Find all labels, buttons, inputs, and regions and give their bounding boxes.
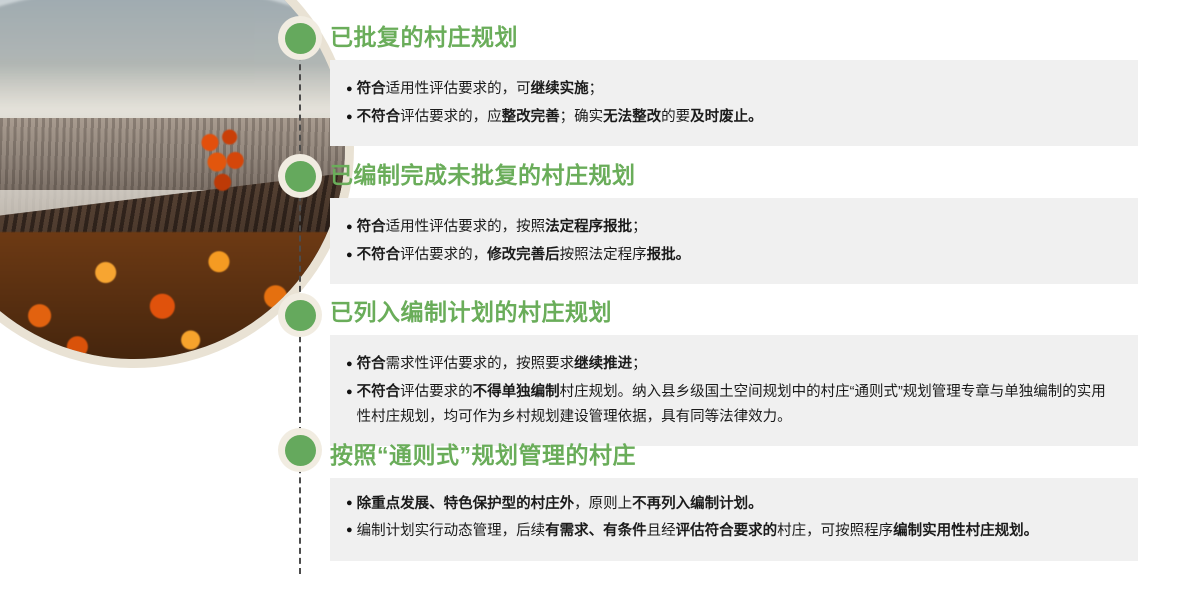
emphasis-text: 及时废止。 [690, 109, 763, 125]
plain-text: ； [632, 219, 647, 235]
emphasis-text: 修改完善后 [487, 247, 560, 263]
timeline-rail [278, 0, 322, 610]
section-title: 按照“通则式”规划管理的村庄 [330, 440, 1138, 470]
bullet-text: 除重点发展、特色保护型的村庄外，原则上不再列入编制计划。 [357, 491, 1120, 517]
emphasis-text: 评估符合要求的 [676, 523, 778, 539]
plain-text: ，原则上 [574, 496, 632, 512]
plain-text: 适用性评估要求的，可 [386, 81, 531, 97]
bullet-text: 符合适用性评估要求的，可继续实施； [357, 77, 1120, 102]
emphasis-text: 不符合 [357, 384, 401, 400]
section-content-box: ●符合适用性评估要求的，按照法定程序报批；●不符合评估要求的，修改完善后按照法定… [330, 198, 1138, 284]
plain-text: ； [632, 356, 647, 372]
plain-text: 评估要求的， [400, 247, 487, 263]
bullet-item: ●不符合评估要求的，修改完善后按照法定程序报批。 [346, 243, 1120, 268]
bullet-text: 不符合评估要求的，应整改完善；确实无法整改的要及时废止。 [357, 105, 1120, 130]
bullet-item: ●不符合评估要求的不得单独编制村庄规划。纳入县乡级国土空间规划中的村庄“通则式”… [346, 380, 1120, 430]
timeline-dot-icon [285, 161, 316, 192]
timeline-marker-2[interactable] [278, 154, 322, 198]
emphasis-text: 不符合 [357, 109, 401, 125]
emphasis-text: 符合 [357, 81, 386, 97]
bullet-item: ●符合适用性评估要求的，按照法定程序报批； [346, 215, 1120, 240]
section-block-3: 已列入编制计划的村庄规划 ●符合需求性评估要求的，按照要求继续推进；●不符合评估… [330, 297, 1138, 446]
section-content-box: ●符合适用性评估要求的，可继续实施；●不符合评估要求的，应整改完善；确实无法整改… [330, 60, 1138, 146]
plain-text: 村庄，可按照程序 [777, 523, 893, 539]
section-block-2: 已编制完成未批复的村庄规划 ●符合适用性评估要求的，按照法定程序报批；●不符合评… [330, 160, 1138, 284]
emphasis-text: 整改完善 [502, 109, 560, 125]
bullet-dot-icon: ● [346, 215, 353, 240]
bullet-text: 不符合评估要求的，修改完善后按照法定程序报批。 [357, 243, 1120, 268]
timeline-dot-icon [285, 23, 316, 54]
emphasis-text: 继续实施 [531, 81, 589, 97]
bullet-dot-icon: ● [346, 491, 353, 516]
emphasis-text: 不再列入编制计划。 [632, 496, 763, 512]
plain-text: 评估要求的 [400, 384, 473, 400]
emphasis-text: 无法整改 [603, 109, 661, 125]
bullet-dot-icon: ● [346, 105, 353, 130]
section-content-box: ●符合需求性评估要求的，按照要求继续推进；●不符合评估要求的不得单独编制村庄规划… [330, 335, 1138, 446]
emphasis-text: 符合 [357, 356, 386, 372]
infographic-page: 已批复的村庄规划 ●符合适用性评估要求的，可继续实施；●不符合评估要求的，应整改… [0, 0, 1200, 610]
bullet-dot-icon: ● [346, 518, 353, 543]
timeline-marker-1[interactable] [278, 16, 322, 60]
bullet-dot-icon: ● [346, 77, 353, 102]
bullet-text: 符合需求性评估要求的，按照要求继续推进； [357, 352, 1120, 377]
photo-red-leaf-sprig [189, 123, 259, 201]
emphasis-text: 除重点发展、特色保护型的村庄外 [357, 496, 575, 512]
plain-text: ；确实 [560, 109, 604, 125]
section-title: 已列入编制计划的村庄规划 [330, 297, 1138, 327]
plain-text: 的要 [661, 109, 690, 125]
plain-text: 评估要求的，应 [400, 109, 502, 125]
plain-text: 编制计划实行动态管理，后续 [357, 523, 546, 539]
emphasis-text: 报批。 [647, 247, 691, 263]
emphasis-text: 法定程序报批 [545, 219, 632, 235]
emphasis-text: 有需求、有条件 [545, 523, 647, 539]
emphasis-text: 编制实用性村庄规划。 [893, 523, 1038, 539]
emphasis-text: 符合 [357, 219, 386, 235]
timeline-dot-icon [285, 300, 316, 331]
emphasis-text: 不得单独编制 [473, 384, 560, 400]
plain-text: 按照法定程序 [560, 247, 647, 263]
plain-text: ； [589, 81, 604, 97]
bullet-item: ●符合适用性评估要求的，可继续实施； [346, 77, 1120, 102]
emphasis-text: 不符合 [357, 247, 401, 263]
timeline-marker-3[interactable] [278, 293, 322, 337]
bullet-item: ●不符合评估要求的，应整改完善；确实无法整改的要及时废止。 [346, 105, 1120, 130]
bullet-item: ●除重点发展、特色保护型的村庄外，原则上不再列入编制计划。 [346, 491, 1120, 517]
bullet-text: 编制计划实行动态管理，后续有需求、有条件且经评估符合要求的村庄，可按照程序编制实… [357, 518, 1120, 544]
plain-text: 且经 [647, 523, 676, 539]
section-title: 已批复的村庄规划 [330, 22, 1138, 52]
section-block-4: 按照“通则式”规划管理的村庄 ●除重点发展、特色保护型的村庄外，原则上不再列入编… [330, 440, 1138, 561]
section-content-box: ●除重点发展、特色保护型的村庄外，原则上不再列入编制计划。●编制计划实行动态管理… [330, 478, 1138, 561]
plain-text: 需求性评估要求的，按照要求 [386, 356, 575, 372]
emphasis-text: 继续推进 [574, 356, 632, 372]
bullet-dot-icon: ● [346, 243, 353, 268]
section-title: 已编制完成未批复的村庄规划 [330, 160, 1138, 190]
bullet-item: ●符合需求性评估要求的，按照要求继续推进； [346, 352, 1120, 377]
bullet-text: 符合适用性评估要求的，按照法定程序报批； [357, 215, 1120, 240]
timeline-dot-icon [285, 435, 316, 466]
plain-text: 适用性评估要求的，按照 [386, 219, 546, 235]
timeline-marker-4[interactable] [278, 428, 322, 472]
section-block-1: 已批复的村庄规划 ●符合适用性评估要求的，可继续实施；●不符合评估要求的，应整改… [330, 22, 1138, 146]
bullet-text: 不符合评估要求的不得单独编制村庄规划。纳入县乡级国土空间规划中的村庄“通则式”规… [357, 380, 1120, 430]
bullet-dot-icon: ● [346, 352, 353, 377]
bullet-dot-icon: ● [346, 380, 353, 405]
bullet-item: ●编制计划实行动态管理，后续有需求、有条件且经评估符合要求的村庄，可按照程序编制… [346, 518, 1120, 544]
